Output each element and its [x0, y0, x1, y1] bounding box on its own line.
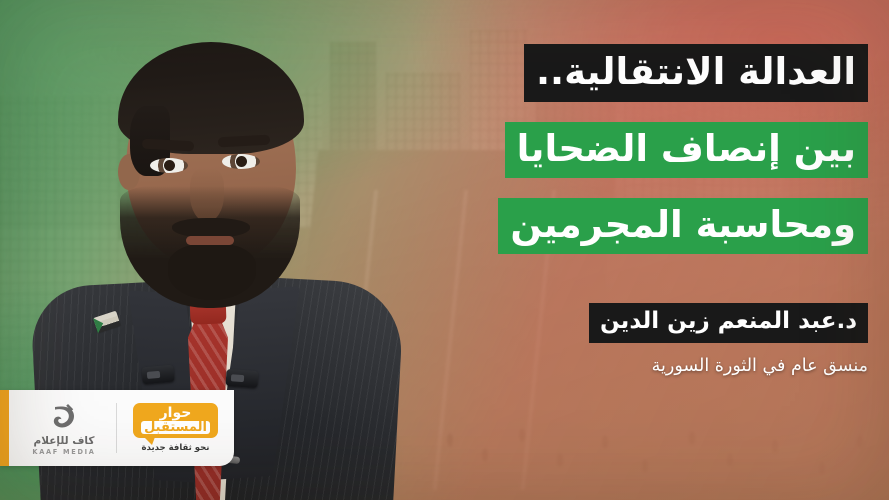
nose — [190, 168, 224, 222]
headline-line-2: بين إنصاف الضحايا — [505, 122, 868, 178]
speaker-role: منسق عام في الثورة السورية — [428, 356, 868, 376]
kaf-monogram-icon — [47, 400, 81, 434]
speaker-block: د.عبد المنعم زين الدين منسق عام في الثور… — [428, 303, 868, 376]
eye-left — [150, 158, 188, 173]
headline-row-3: ومحاسبة المجرمين — [428, 198, 868, 254]
hair — [118, 42, 304, 154]
bubble-bottom-text: المستقبل — [141, 421, 210, 434]
mustache — [172, 218, 250, 238]
headline-line-1: العدالة الانتقالية.. — [524, 44, 868, 102]
poster-canvas: العدالة الانتقالية.. بين إنصاف الضحايا و… — [0, 0, 889, 500]
headline-block: العدالة الانتقالية.. بين إنصاف الضحايا و… — [428, 44, 868, 254]
chin-beard — [168, 244, 256, 300]
headline-row-2: بين إنصاف الضحايا — [428, 122, 868, 178]
lapel-microphone — [141, 365, 174, 385]
speech-bubble-icon: حوار المستقبل — [133, 403, 218, 438]
lower-lip — [186, 236, 234, 245]
brand-hiwar-almustaqbal: حوار المستقبل نحو ثقافة جديدة — [117, 403, 234, 453]
headline-line-3: ومحاسبة المجرمين — [498, 198, 868, 254]
kaaf-media-latin: KAAF MEDIA — [32, 448, 95, 456]
brand-kaaf-media: كاف للإعلام KAAF MEDIA — [0, 400, 116, 456]
eye-right — [222, 154, 260, 169]
lapel-microphone — [225, 369, 258, 388]
logo-bar: كاف للإعلام KAAF MEDIA حوار المستقبل نحو… — [0, 390, 234, 466]
headline-row-1: العدالة الانتقالية.. — [428, 44, 868, 102]
speaker-name: د.عبد المنعم زين الدين — [589, 303, 868, 343]
orange-accent-strip — [0, 390, 9, 466]
bubble-top-text: حوار — [160, 406, 192, 420]
kaaf-media-arabic: كاف للإعلام — [34, 435, 95, 447]
